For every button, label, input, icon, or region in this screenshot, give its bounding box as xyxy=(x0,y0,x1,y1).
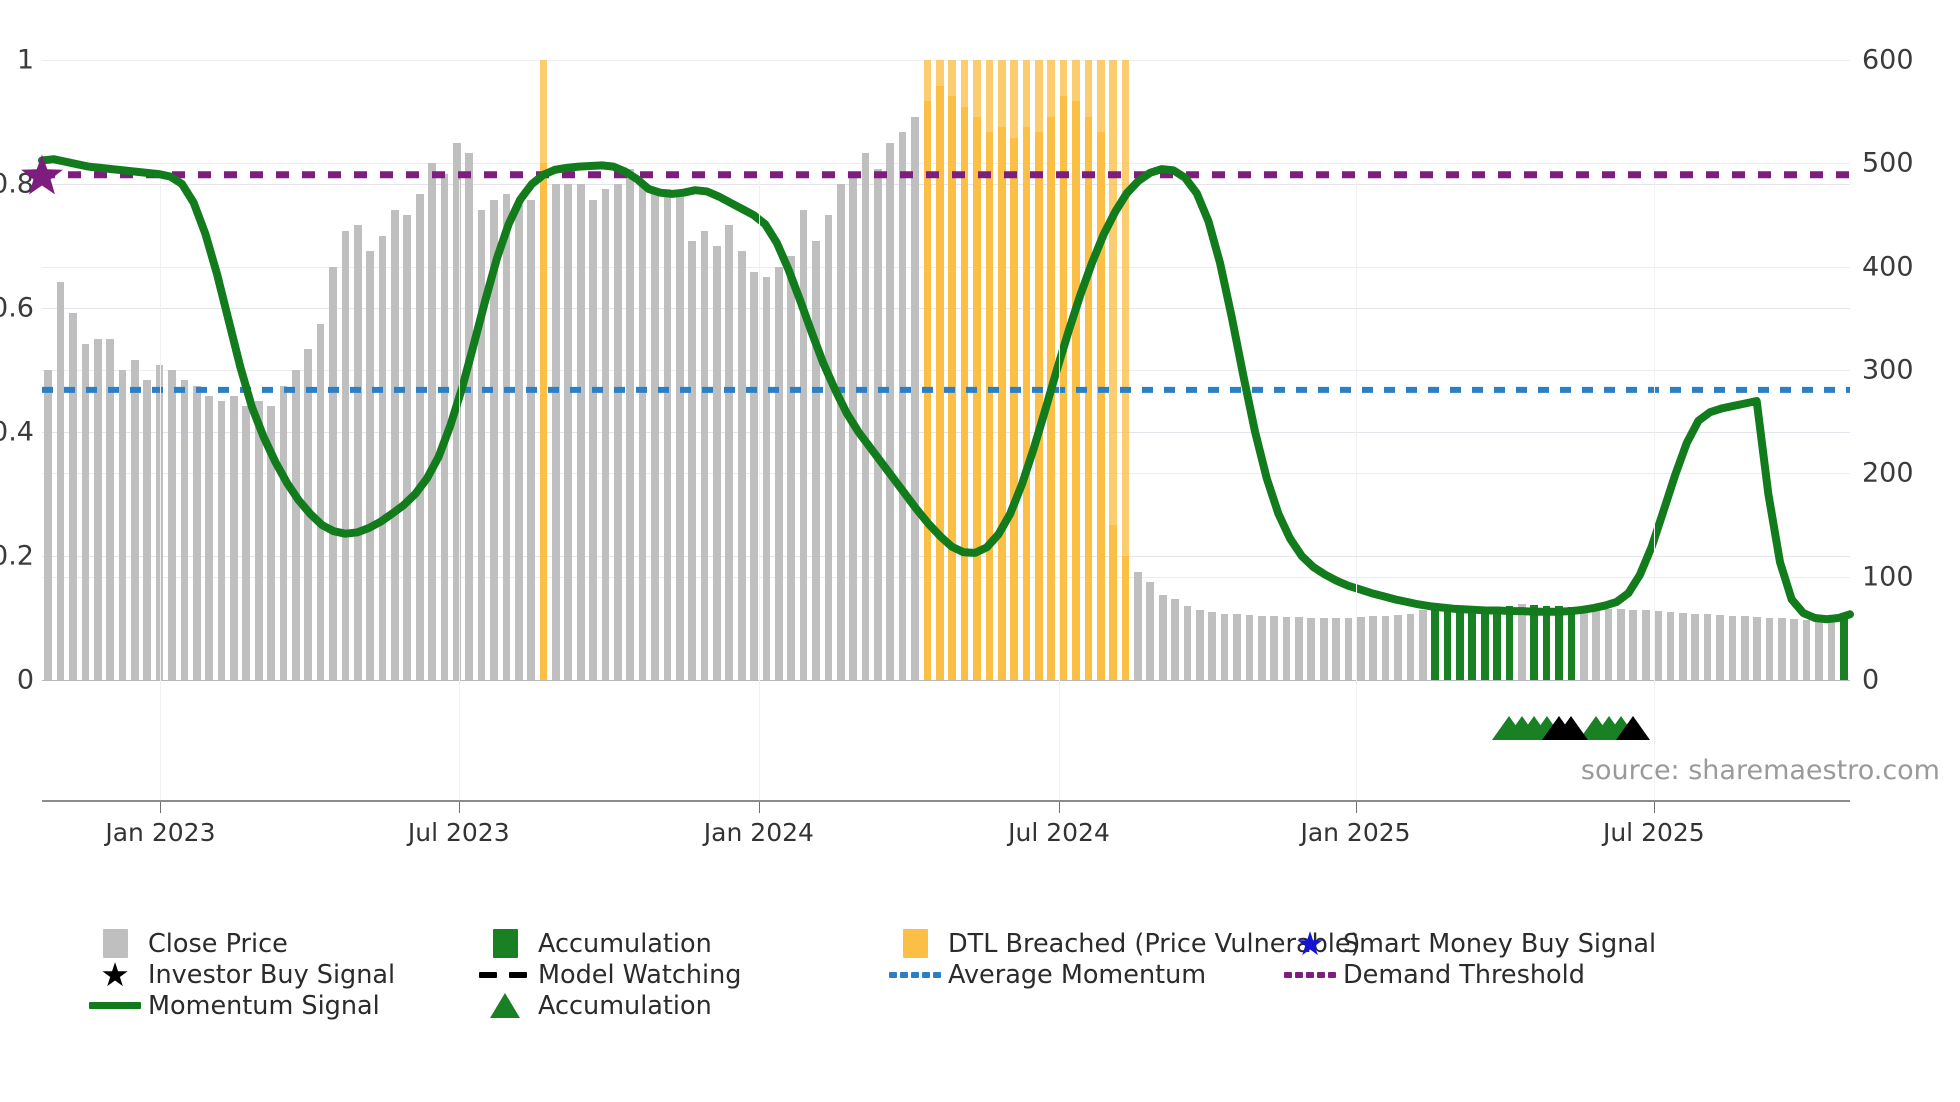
gridline xyxy=(42,184,1850,185)
price-bar xyxy=(94,339,102,680)
chart-legend: Close PriceAccumulationDTL Breached (Pri… xyxy=(86,928,1926,1021)
legend-color-swatch-icon xyxy=(493,929,518,958)
price-bar xyxy=(1580,608,1588,680)
price-bar xyxy=(1444,607,1452,680)
price-bar xyxy=(1134,572,1142,681)
legend-item[interactable]: Accumulation xyxy=(476,928,712,959)
plot-baseline xyxy=(42,680,1850,681)
legend-item[interactable]: Average Momentum xyxy=(886,959,1206,990)
y-axis-right-tick-label: 600 xyxy=(1862,47,1914,74)
x-axis-tick xyxy=(1059,802,1060,813)
price-bar xyxy=(1592,608,1600,680)
price-bar xyxy=(205,396,213,680)
price-bar xyxy=(1617,609,1625,680)
y-axis-right-tick-label: 200 xyxy=(1862,460,1914,487)
price-bar xyxy=(1468,610,1476,680)
price-bar xyxy=(1332,618,1340,680)
price-bar xyxy=(763,277,771,680)
price-bar xyxy=(1815,620,1823,680)
price-bar xyxy=(701,231,709,681)
vertical-gridline xyxy=(1654,180,1655,800)
price-bar xyxy=(825,215,833,680)
price-bar xyxy=(1729,616,1737,680)
price-bar xyxy=(602,189,610,680)
price-bar xyxy=(589,200,597,681)
price-bar xyxy=(329,267,337,680)
price-bar xyxy=(218,401,226,680)
legend-star-icon: ★ xyxy=(1295,928,1325,959)
price-bar xyxy=(230,396,238,680)
price-bar-dtl xyxy=(986,132,994,680)
price-bar xyxy=(1456,606,1464,680)
price-bar xyxy=(255,401,263,680)
price-bar xyxy=(57,282,65,680)
price-bar-dtl xyxy=(948,96,956,680)
price-bar xyxy=(750,272,758,680)
vertical-gridline xyxy=(1059,180,1060,800)
price-bar xyxy=(82,344,90,680)
x-axis-tick-label: Jul 2023 xyxy=(408,818,510,847)
price-bar xyxy=(354,225,362,680)
legend-item[interactable]: ★Smart Money Buy Signal xyxy=(1281,928,1656,959)
price-bar xyxy=(812,241,820,680)
price-bar xyxy=(317,324,325,681)
price-bar xyxy=(639,184,647,680)
price-bar-dtl xyxy=(1109,525,1117,680)
price-bar xyxy=(515,205,523,680)
legend-row: Momentum SignalAccumulation xyxy=(86,990,1926,1021)
gridline xyxy=(42,267,1850,268)
price-bar xyxy=(119,370,127,680)
price-bar-dtl xyxy=(1035,132,1043,680)
price-bar xyxy=(800,210,808,680)
gridline xyxy=(42,577,1850,578)
y-axis-left-tick-label: 0.8 xyxy=(0,171,34,198)
price-bar xyxy=(725,225,733,680)
vertical-gridline xyxy=(160,180,161,800)
legend-row: Close PriceAccumulationDTL Breached (Pri… xyxy=(86,928,1926,959)
x-axis-tick xyxy=(459,802,460,813)
price-bar xyxy=(168,370,176,680)
y-axis-left-tick-label: 0 xyxy=(17,667,34,694)
legend-dash-swatch-icon xyxy=(479,972,531,978)
price-bar xyxy=(862,153,870,680)
price-bar xyxy=(267,406,275,680)
legend-swatch-rect xyxy=(886,928,944,959)
price-bar xyxy=(886,143,894,680)
price-bar xyxy=(1307,618,1315,680)
price-bar xyxy=(1506,606,1514,680)
gridline xyxy=(42,370,1850,371)
x-axis: Jan 2023Jul 2023Jan 2024Jul 2024Jan 2025… xyxy=(42,800,1850,870)
legend-swatch-dotted xyxy=(1281,959,1339,990)
legend-item[interactable]: Momentum Signal xyxy=(86,990,380,1021)
price-bar xyxy=(403,215,411,680)
price-bar xyxy=(775,267,783,680)
gridline xyxy=(42,60,1850,61)
price-bar xyxy=(713,246,721,680)
legend-label: Close Price xyxy=(144,929,288,959)
price-bar-dtl xyxy=(936,86,944,680)
price-bar-dtl xyxy=(924,101,932,680)
price-bar xyxy=(503,194,511,680)
price-bar xyxy=(1555,606,1563,680)
price-bar xyxy=(1208,612,1216,680)
price-bar xyxy=(1196,610,1204,680)
vertical-gridline xyxy=(459,180,460,800)
y-axis-left-tick-label: 0.6 xyxy=(0,295,34,322)
y-axis-right-tick-label: 300 xyxy=(1862,357,1914,384)
price-bar-dtl xyxy=(973,117,981,680)
legend-item[interactable]: ★Investor Buy Signal xyxy=(86,959,395,990)
price-bar-dtl xyxy=(998,127,1006,680)
price-bar-dtl xyxy=(961,107,969,681)
legend-swatch-dash xyxy=(476,959,534,990)
price-bar xyxy=(849,174,857,680)
price-bar xyxy=(304,349,312,680)
vertical-gridline xyxy=(759,180,760,800)
price-bar xyxy=(69,313,77,680)
signal-marker-strip xyxy=(42,690,1850,740)
price-bar-dtl xyxy=(1047,117,1055,680)
price-bar xyxy=(1543,606,1551,680)
legend-label: Investor Buy Signal xyxy=(144,960,395,990)
price-bar xyxy=(1716,615,1724,680)
legend-swatch-star: ★ xyxy=(86,959,144,990)
x-axis-tick-label: Jan 2025 xyxy=(1300,818,1410,847)
legend-swatch-dotted xyxy=(886,959,944,990)
price-bar xyxy=(1146,582,1154,680)
y-axis-left: 00.20.40.60.81 xyxy=(0,60,34,680)
price-bar xyxy=(1295,617,1303,680)
price-bar xyxy=(1481,613,1489,680)
price-bar xyxy=(676,194,684,680)
legend-line-swatch-icon xyxy=(89,1002,141,1009)
x-axis-tick-label: Jul 2025 xyxy=(1603,818,1705,847)
price-bar xyxy=(280,386,288,681)
legend-label: Momentum Signal xyxy=(144,991,380,1021)
investor-buy-marker xyxy=(1616,716,1650,740)
price-bar xyxy=(1345,618,1353,680)
price-bar xyxy=(614,184,622,680)
legend-swatch-line xyxy=(86,990,144,1021)
price-bar xyxy=(1629,610,1637,680)
gridline xyxy=(42,556,1850,557)
price-bar xyxy=(1828,621,1836,680)
y-axis-right: 0100200300400500600 xyxy=(1862,60,1954,680)
y-axis-right-tick-label: 400 xyxy=(1862,253,1914,280)
price-bar xyxy=(1369,616,1377,680)
price-bar xyxy=(1803,620,1811,680)
price-bar xyxy=(1233,614,1241,680)
x-axis-tick xyxy=(1654,802,1655,813)
x-axis-tick xyxy=(1356,802,1357,813)
price-bar xyxy=(143,380,151,680)
plot-inner xyxy=(42,60,1850,680)
price-bar xyxy=(1840,616,1848,680)
price-bar xyxy=(366,251,374,680)
source-attribution: source: sharemaestro.com xyxy=(1581,755,1940,786)
legend-label: Demand Threshold xyxy=(1339,960,1585,990)
price-bar xyxy=(1246,615,1254,680)
price-bar xyxy=(899,132,907,680)
price-bar xyxy=(1493,608,1501,680)
x-axis-tick-label: Jul 2024 xyxy=(1008,818,1110,847)
x-axis-tick-label: Jan 2023 xyxy=(105,818,215,847)
legend-swatch-triangle xyxy=(476,990,534,1021)
price-bar xyxy=(837,184,845,680)
legend-dotted-swatch-icon xyxy=(1284,972,1336,978)
legend-label: Model Watching xyxy=(534,960,742,990)
y-axis-right-tick-label: 500 xyxy=(1862,150,1914,177)
price-bar xyxy=(1766,618,1774,680)
price-bar xyxy=(478,210,486,680)
price-bar xyxy=(1778,618,1786,680)
price-bar xyxy=(1382,616,1390,680)
gridline xyxy=(42,308,1850,309)
price-bar xyxy=(577,184,585,680)
price-bar-dtl xyxy=(1072,101,1080,680)
price-bar xyxy=(193,386,201,681)
price-bar xyxy=(292,370,300,680)
price-bar-dtl xyxy=(1060,96,1068,680)
legend-color-swatch-icon xyxy=(103,929,128,958)
legend-item[interactable]: Accumulation xyxy=(476,990,712,1021)
price-bar xyxy=(664,189,672,680)
price-bar xyxy=(428,163,436,680)
x-axis-tick xyxy=(160,802,161,813)
price-bar xyxy=(242,406,250,680)
price-bar xyxy=(1704,614,1712,680)
price-bar xyxy=(1283,617,1291,680)
price-bar xyxy=(1654,611,1662,680)
chart-root: 00.20.40.60.81 0100200300400500600 Jan 2… xyxy=(0,0,1960,1102)
price-bar xyxy=(391,210,399,680)
price-bar-dtl xyxy=(1122,556,1130,680)
price-bar xyxy=(688,241,696,680)
price-bar xyxy=(131,360,139,680)
price-bar xyxy=(564,184,572,680)
price-bar xyxy=(738,251,746,680)
price-bar xyxy=(1171,599,1179,680)
legend-label: Accumulation xyxy=(534,929,712,959)
legend-dotted-swatch-icon xyxy=(889,972,941,978)
legend-color-swatch-icon xyxy=(903,929,928,958)
legend-label: Average Momentum xyxy=(944,960,1206,990)
price-bar xyxy=(1741,616,1749,680)
price-bar xyxy=(1407,614,1415,680)
legend-item[interactable]: Model Watching xyxy=(476,959,742,990)
price-bar xyxy=(1753,617,1761,680)
price-bar xyxy=(1667,612,1675,680)
price-bar xyxy=(106,339,114,680)
legend-label: Smart Money Buy Signal xyxy=(1339,929,1656,959)
price-bar xyxy=(1431,608,1439,680)
price-bar xyxy=(465,153,473,680)
investor-buy-marker xyxy=(1554,716,1588,740)
legend-item[interactable]: Demand Threshold xyxy=(1281,959,1585,990)
price-bar xyxy=(1221,614,1229,680)
price-bar xyxy=(342,231,350,681)
legend-row: ★Investor Buy SignalModel WatchingAverag… xyxy=(86,959,1926,990)
price-bar xyxy=(651,194,659,680)
price-bar xyxy=(1568,607,1576,680)
price-bar xyxy=(552,184,560,680)
price-bar xyxy=(1419,610,1427,680)
x-axis-rule xyxy=(42,800,1850,802)
price-bar xyxy=(1691,614,1699,680)
price-bar xyxy=(490,200,498,681)
y-axis-left-tick-label: 1 xyxy=(17,47,34,74)
x-axis-tick xyxy=(759,802,760,813)
price-bar xyxy=(181,380,189,680)
gridline xyxy=(42,473,1850,474)
price-bar xyxy=(1258,616,1266,680)
price-bar xyxy=(1357,617,1365,680)
price-bar xyxy=(874,169,882,681)
price-bar xyxy=(1642,610,1650,680)
price-bar xyxy=(441,174,449,680)
y-axis-left-tick-label: 0.2 xyxy=(0,543,34,570)
price-bar xyxy=(44,370,52,680)
price-bar xyxy=(626,169,634,681)
price-bar-dtl xyxy=(1097,132,1105,680)
gridline xyxy=(42,163,1850,164)
legend-label: Accumulation xyxy=(534,991,712,1021)
price-bar-dtl xyxy=(1023,127,1031,680)
y-axis-right-tick-label: 0 xyxy=(1862,667,1879,694)
price-bar-dtl xyxy=(1085,117,1093,680)
legend-swatch-star: ★ xyxy=(1281,928,1339,959)
price-bar xyxy=(527,200,535,681)
price-bar xyxy=(911,117,919,680)
price-bar xyxy=(1184,606,1192,680)
price-bar xyxy=(379,236,387,680)
price-bar xyxy=(1679,613,1687,680)
y-axis-left-tick-label: 0.4 xyxy=(0,419,34,446)
price-bar xyxy=(1320,618,1328,680)
legend-triangle-icon xyxy=(490,993,520,1018)
gridline xyxy=(42,432,1850,433)
price-bar xyxy=(1270,616,1278,680)
legend-swatch-rect xyxy=(476,928,534,959)
price-bar-dtl xyxy=(540,163,548,680)
price-bar xyxy=(1605,609,1613,680)
price-bar-dtl xyxy=(1010,138,1018,681)
price-bar xyxy=(1790,619,1798,680)
legend-star-icon: ★ xyxy=(100,959,130,990)
vertical-gridline xyxy=(1356,180,1357,800)
price-bar xyxy=(1394,615,1402,680)
price-bar xyxy=(787,256,795,680)
price-bar xyxy=(1159,595,1167,680)
x-axis-tick-label: Jan 2024 xyxy=(704,818,814,847)
price-bar xyxy=(416,194,424,680)
y-axis-right-tick-label: 100 xyxy=(1862,563,1914,590)
price-bar xyxy=(1518,604,1526,680)
price-bar xyxy=(1530,605,1538,680)
plot-area xyxy=(42,60,1850,680)
